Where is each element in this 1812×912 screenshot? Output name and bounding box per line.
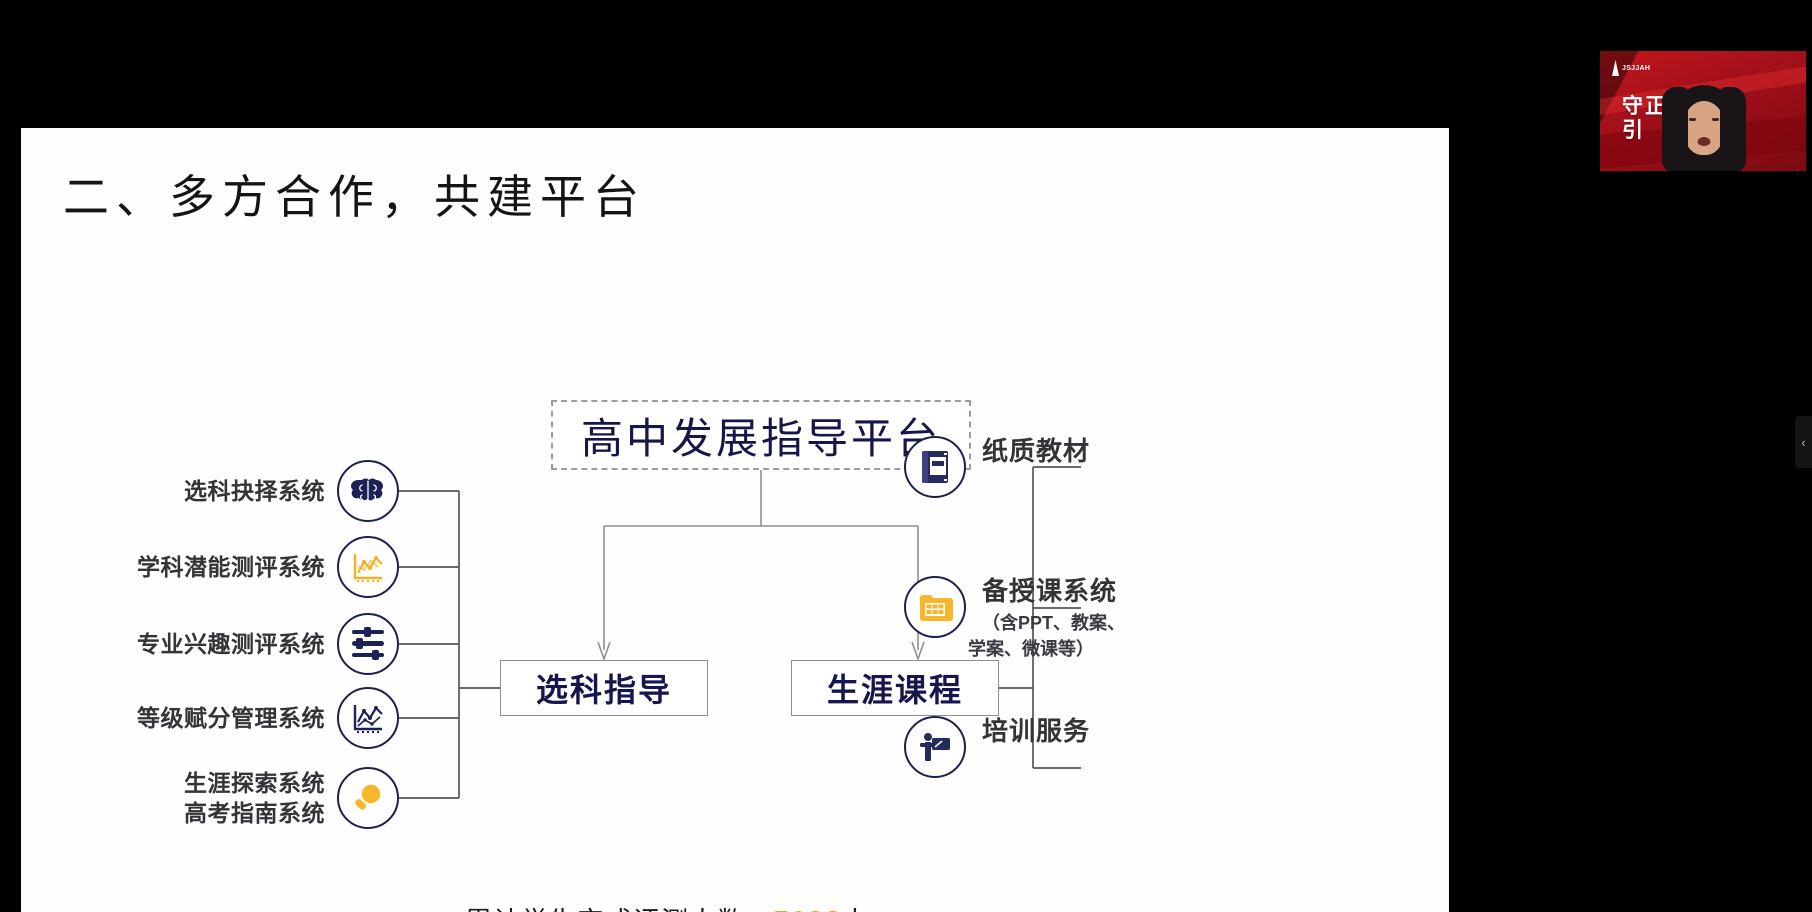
feature-right-sublabel-line2: 学案、微课等） [968, 637, 1125, 663]
feature-left-label: 学科潜能测评系统 [137, 552, 325, 582]
node-career-course[interactable]: 生涯课程 [791, 660, 999, 716]
speaker-hair-front-left [1662, 87, 1688, 171]
feature-right-training-service[interactable]: 培训服务 [904, 716, 1090, 778]
feature-right-text: 纸质教材 [982, 436, 1090, 467]
footer-statistic-unit: 人 [842, 907, 870, 912]
feature-left-subject-decision[interactable]: 选科抉择系统 [21, 460, 399, 522]
platform-title-label: 高中发展指导平台 [581, 405, 941, 466]
presenter-icon [904, 716, 966, 778]
folder-grid-icon [904, 576, 966, 638]
line-chart-icon [337, 536, 399, 598]
feature-left-label-line2: 高考指南系统 [184, 800, 325, 826]
webcam-overlay[interactable]: JSJJAH 守正创 引 [1600, 51, 1806, 171]
collapse-panel-button[interactable]: ‹ [1795, 416, 1812, 468]
feature-right-label: 培训服务 [982, 716, 1090, 747]
speaker-figure [1656, 85, 1752, 171]
feature-left-label: 选科抉择系统 [184, 476, 325, 506]
feature-left-aptitude-assessment[interactable]: 学科潜能测评系统 [21, 536, 399, 598]
area-chart-icon [337, 687, 399, 749]
feature-left-label: 生涯探索系统 高考指南系统 [184, 768, 325, 829]
footer-statistic-value: 5106 [773, 906, 842, 912]
feature-right-text: 备授课系统 （含PPT、教案、 学案、微课等） [982, 576, 1125, 662]
feature-left-label: 等级赋分管理系统 [137, 703, 325, 733]
feature-left-major-interest[interactable]: 专业兴趣测评系统 [21, 613, 399, 675]
feature-right-label: 纸质教材 [982, 436, 1090, 467]
screen-share-viewport: 二、多方合作，共建平台 [0, 0, 1812, 912]
logo-text: JSJJAH [1622, 65, 1650, 72]
feature-right-sublabel-line1: （含PPT、教案、 [982, 613, 1125, 633]
speaker-face [1683, 101, 1725, 155]
feature-right-lesson-prep-system[interactable]: 备授课系统 （含PPT、教案、 学案、微课等） [904, 576, 1125, 662]
feature-right-sublabel: （含PPT、教案、 学案、微课等） [982, 611, 1125, 662]
footer-statistic-label: 累计学生完成评测人数： [465, 907, 773, 912]
presentation-slide: 二、多方合作，共建平台 [21, 128, 1449, 912]
webcam-video-feed: JSJJAH 守正创 引 [1600, 51, 1806, 171]
backdrop-logo: JSJJAH [1612, 60, 1650, 76]
notebook-icon [904, 436, 966, 498]
feature-left-label-line1: 生涯探索系统 [184, 770, 325, 796]
chevron-left-icon: ‹ [1801, 436, 1805, 449]
speaker-eye-left [1689, 118, 1696, 121]
speaker-hair-front-right [1720, 87, 1746, 171]
feature-left-career-exploration[interactable]: 生涯探索系统 高考指南系统 [21, 767, 399, 829]
feature-left-label: 专业兴趣测评系统 [137, 629, 325, 659]
brain-icon [337, 460, 399, 522]
speaker-mouth [1698, 137, 1711, 146]
feature-right-paper-textbook[interactable]: 纸质教材 [904, 436, 1090, 498]
feature-right-text: 培训服务 [982, 716, 1090, 747]
feature-left-grade-scoring[interactable]: 等级赋分管理系统 [21, 687, 399, 749]
node-subject-guidance-label: 选科指导 [536, 665, 672, 711]
node-career-course-label: 生涯课程 [827, 665, 963, 711]
magnifier-icon [337, 767, 399, 829]
logo-mark-icon [1612, 60, 1619, 76]
feature-right-label: 备授课系统 [982, 576, 1125, 607]
footer-statistic: 累计学生完成评测人数：5106人 [465, 900, 870, 912]
sliders-icon [337, 613, 399, 675]
node-subject-guidance[interactable]: 选科指导 [500, 660, 708, 716]
speaker-eye-right [1712, 118, 1719, 121]
